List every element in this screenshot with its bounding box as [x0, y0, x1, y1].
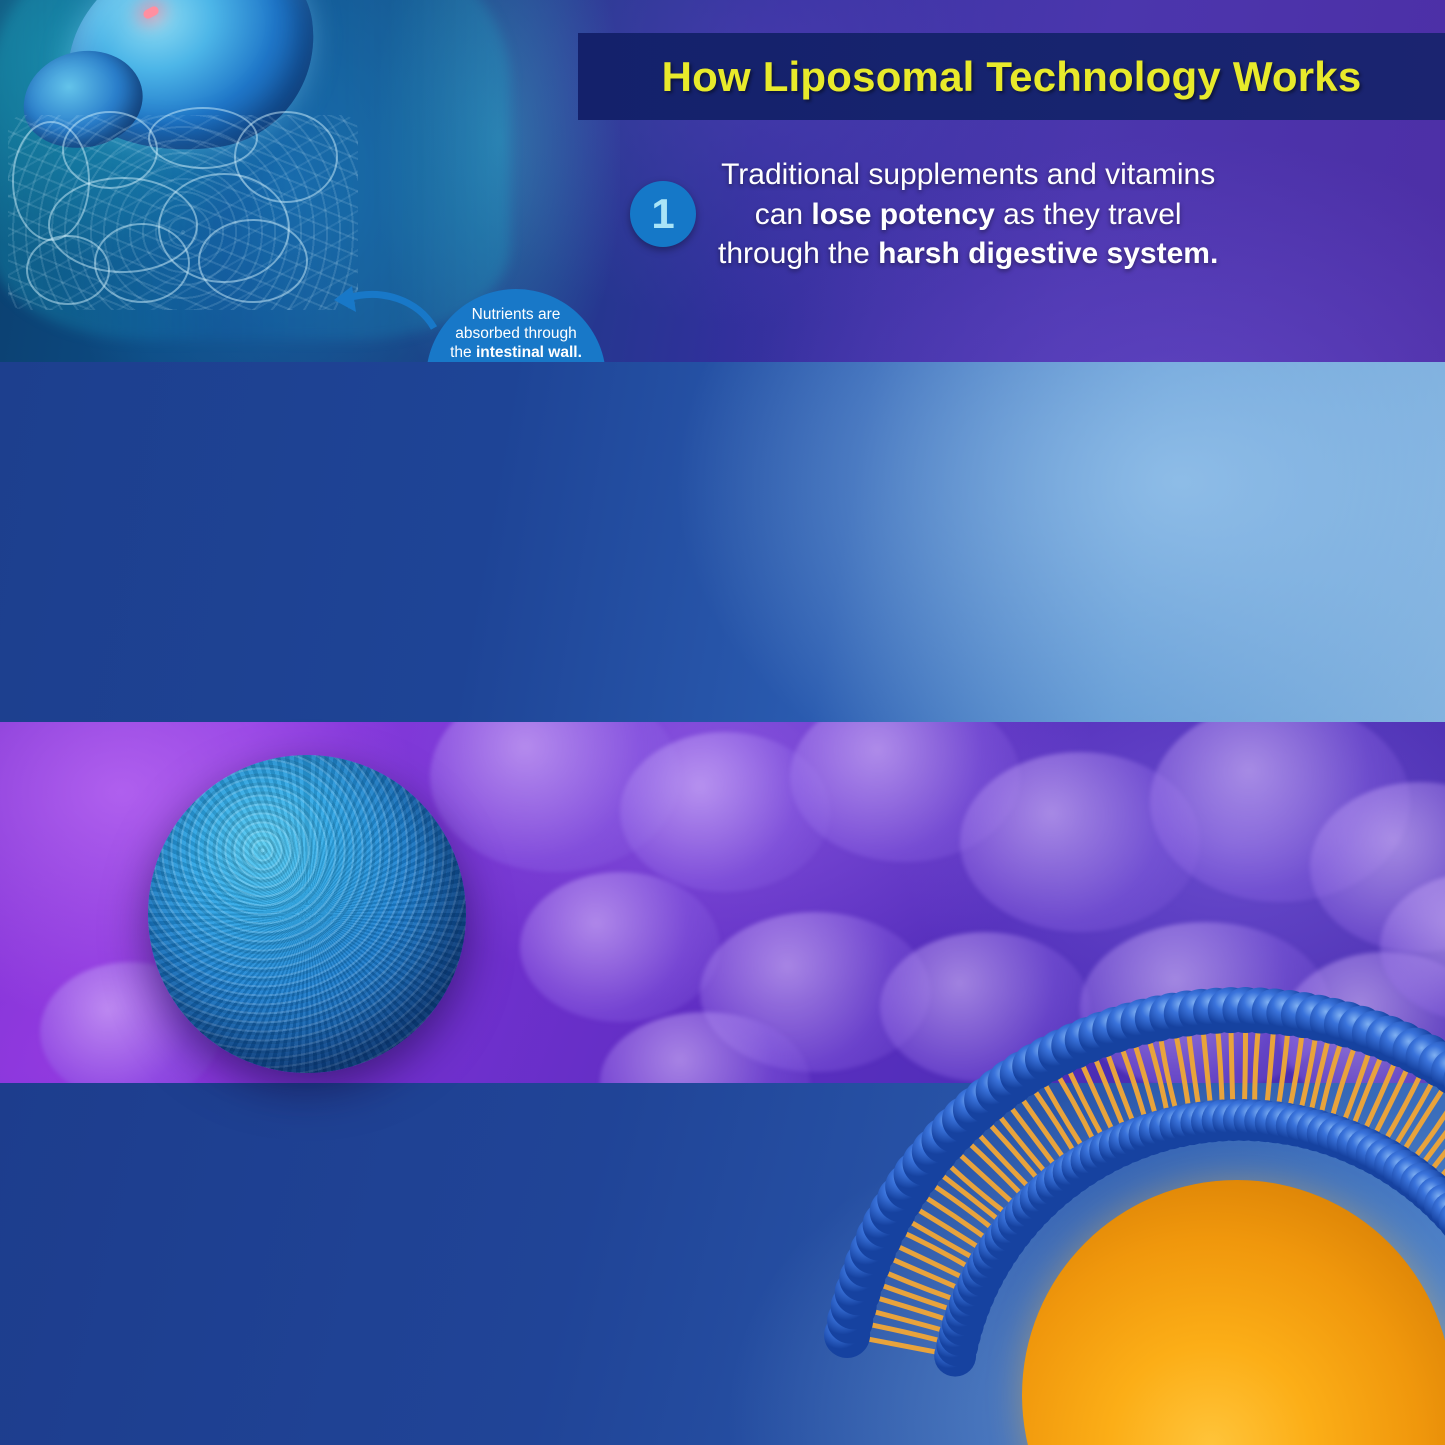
red-blood-cell-shape	[520, 872, 720, 1022]
step-1-badge: 1	[630, 181, 696, 247]
title-bar: How Liposomal Technology Works	[578, 33, 1445, 120]
liposome-sphere-illustration	[148, 755, 466, 1073]
intestines-shape	[8, 115, 358, 310]
step-1: 1 Traditional supplements and vitaminsca…	[630, 155, 1270, 274]
page-title: How Liposomal Technology Works	[662, 53, 1362, 101]
callout-arrow-icon	[330, 284, 440, 332]
panel-2-background	[0, 362, 1445, 722]
step-2-panel: 2 However, our vitamins and supplementsa…	[0, 362, 1445, 722]
step-1-panel: How Liposomal Technology Works Nutrients…	[0, 0, 1445, 362]
step-1-text: Traditional supplements and vitaminscan …	[718, 155, 1218, 274]
callout-intestinal-wall-text: Nutrients areabsorbed throughthe intesti…	[436, 305, 596, 362]
liposomal-technology-infographic: How Liposomal Technology Works Nutrients…	[0, 0, 1445, 1445]
red-blood-cell-shape	[880, 932, 1090, 1082]
